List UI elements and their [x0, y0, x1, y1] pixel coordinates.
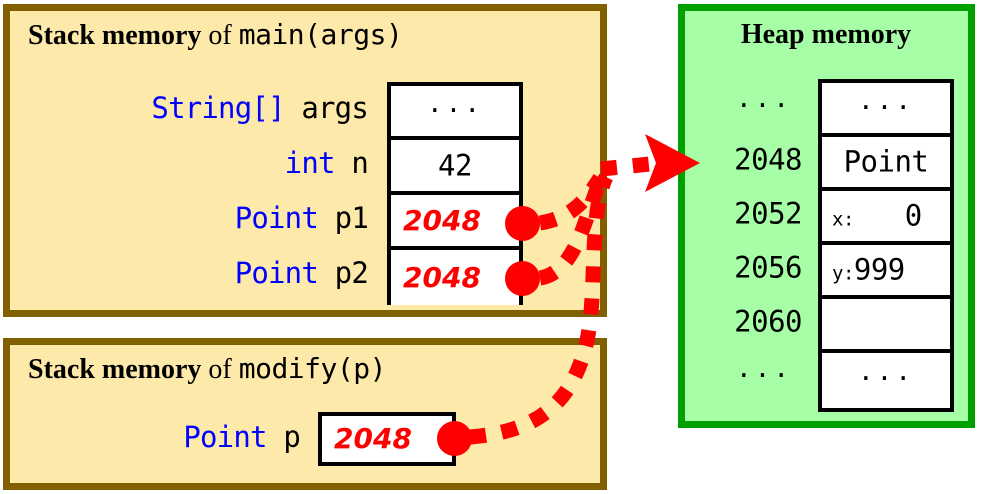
variable-name: p1: [335, 201, 368, 235]
stack-main-title-of: of: [201, 20, 238, 51]
variable-name: p: [283, 420, 300, 454]
cell-value: 2048: [403, 207, 481, 235]
heap-address: 2048: [734, 146, 802, 175]
stack-main-label-row: Point p1: [40, 192, 378, 247]
stack-modify-variable-labels: Point p: [40, 412, 310, 465]
variable-label-args: String[] args: [151, 94, 368, 123]
cell-value: ···: [822, 95, 950, 121]
variable-name-spacer: [285, 91, 302, 125]
stack-main-title: Stack memory of main(args): [28, 21, 402, 50]
stack-main-title-bold: Stack memory: [28, 20, 201, 51]
memory-cell-args: ···: [391, 86, 519, 140]
memory-cell-p: 2048: [322, 416, 452, 462]
memory-diagram: Stack memory of main(args) String[] args…: [0, 0, 982, 494]
variable-name-spacer: [335, 146, 352, 180]
variable-name-spacer: [318, 256, 335, 290]
heap-address-row: ···: [700, 349, 808, 403]
heap-cell-2056-field-y: y:999: [822, 245, 950, 299]
variable-type: Point: [235, 256, 318, 290]
heap-cell-2052-field-x: x: 0: [822, 191, 950, 245]
variable-name: args: [301, 91, 368, 125]
memory-cell-p2: 2048: [391, 250, 519, 305]
heap-address-row: 2056: [700, 241, 808, 295]
stack-main-variable-labels: String[] args int n Point p1 Point p2: [40, 82, 378, 302]
heap-cell-2048-classname: Point: [822, 137, 950, 191]
heap-title: Heap memory: [706, 21, 946, 49]
cell-value: ···: [822, 366, 950, 392]
stack-main-label-row: Point p2: [40, 247, 378, 302]
variable-label-n: int n: [285, 149, 368, 178]
stack-main-label-row: String[] args: [40, 82, 378, 137]
stack-modify-title-of: of: [201, 354, 238, 385]
pointer-dot-p2: [505, 261, 540, 296]
cell-value: x: 0: [832, 202, 940, 231]
cell-value: Point: [822, 148, 950, 177]
stack-modify-value-cells: 2048: [318, 412, 456, 466]
heap-address-column: ··· 2048 2052 2056 2060 ···: [700, 79, 808, 403]
variable-name-spacer: [267, 420, 284, 454]
heap-address-row: 2060: [700, 295, 808, 349]
heap-title-text: Heap memory: [741, 19, 911, 50]
heap-cell-2060-empty: [822, 299, 950, 353]
variable-label-p: Point p: [183, 423, 300, 452]
heap-address-row: 2048: [700, 133, 808, 187]
cell-value: 42: [391, 151, 519, 180]
heap-value-cells: ··· Point x: 0 y:999 ···: [818, 79, 954, 412]
variable-type: Point: [183, 420, 266, 454]
variable-type: Point: [235, 201, 318, 235]
arrow-path-shared-head: [601, 163, 660, 169]
variable-type: int: [285, 146, 335, 180]
cell-value: ···: [391, 98, 519, 124]
cell-value: 2048: [334, 425, 412, 453]
memory-cell-n: 42: [391, 140, 519, 195]
heap-address-row: ···: [700, 79, 808, 133]
heap-address: 2056: [734, 254, 802, 283]
heap-address: ···: [736, 93, 792, 119]
variable-name: p2: [335, 256, 368, 290]
variable-label-p1: Point p1: [235, 204, 368, 233]
variable-type: String[]: [151, 91, 284, 125]
stack-main-label-row: int n: [40, 137, 378, 192]
heap-cell-ellipsis-bottom: ···: [822, 353, 950, 404]
heap-address: 2052: [734, 200, 802, 229]
cell-value: y:999: [832, 256, 940, 285]
heap-address: 2060: [734, 308, 802, 337]
memory-cell-p1: 2048: [391, 195, 519, 250]
stack-modify-title: Stack memory of modify(p): [28, 355, 386, 384]
heap-address: ···: [736, 363, 792, 389]
stack-main-value-cells: ··· 42 2048 2048: [387, 82, 523, 305]
stack-modify-label-row: Point p: [40, 412, 310, 465]
variable-name: n: [351, 146, 368, 180]
cell-value: 2048: [403, 264, 481, 292]
variable-name-spacer: [318, 201, 335, 235]
variable-label-p2: Point p2: [235, 259, 368, 288]
heap-cell-ellipsis-top: ···: [822, 83, 950, 137]
heap-address-row: 2052: [700, 187, 808, 241]
pointer-dot-p: [437, 421, 472, 456]
stack-modify-title-bold: Stack memory: [28, 354, 201, 385]
stack-main-title-method: main(args): [239, 18, 403, 51]
pointer-dot-p1: [505, 206, 540, 241]
stack-modify-title-method: modify(p): [239, 352, 386, 385]
